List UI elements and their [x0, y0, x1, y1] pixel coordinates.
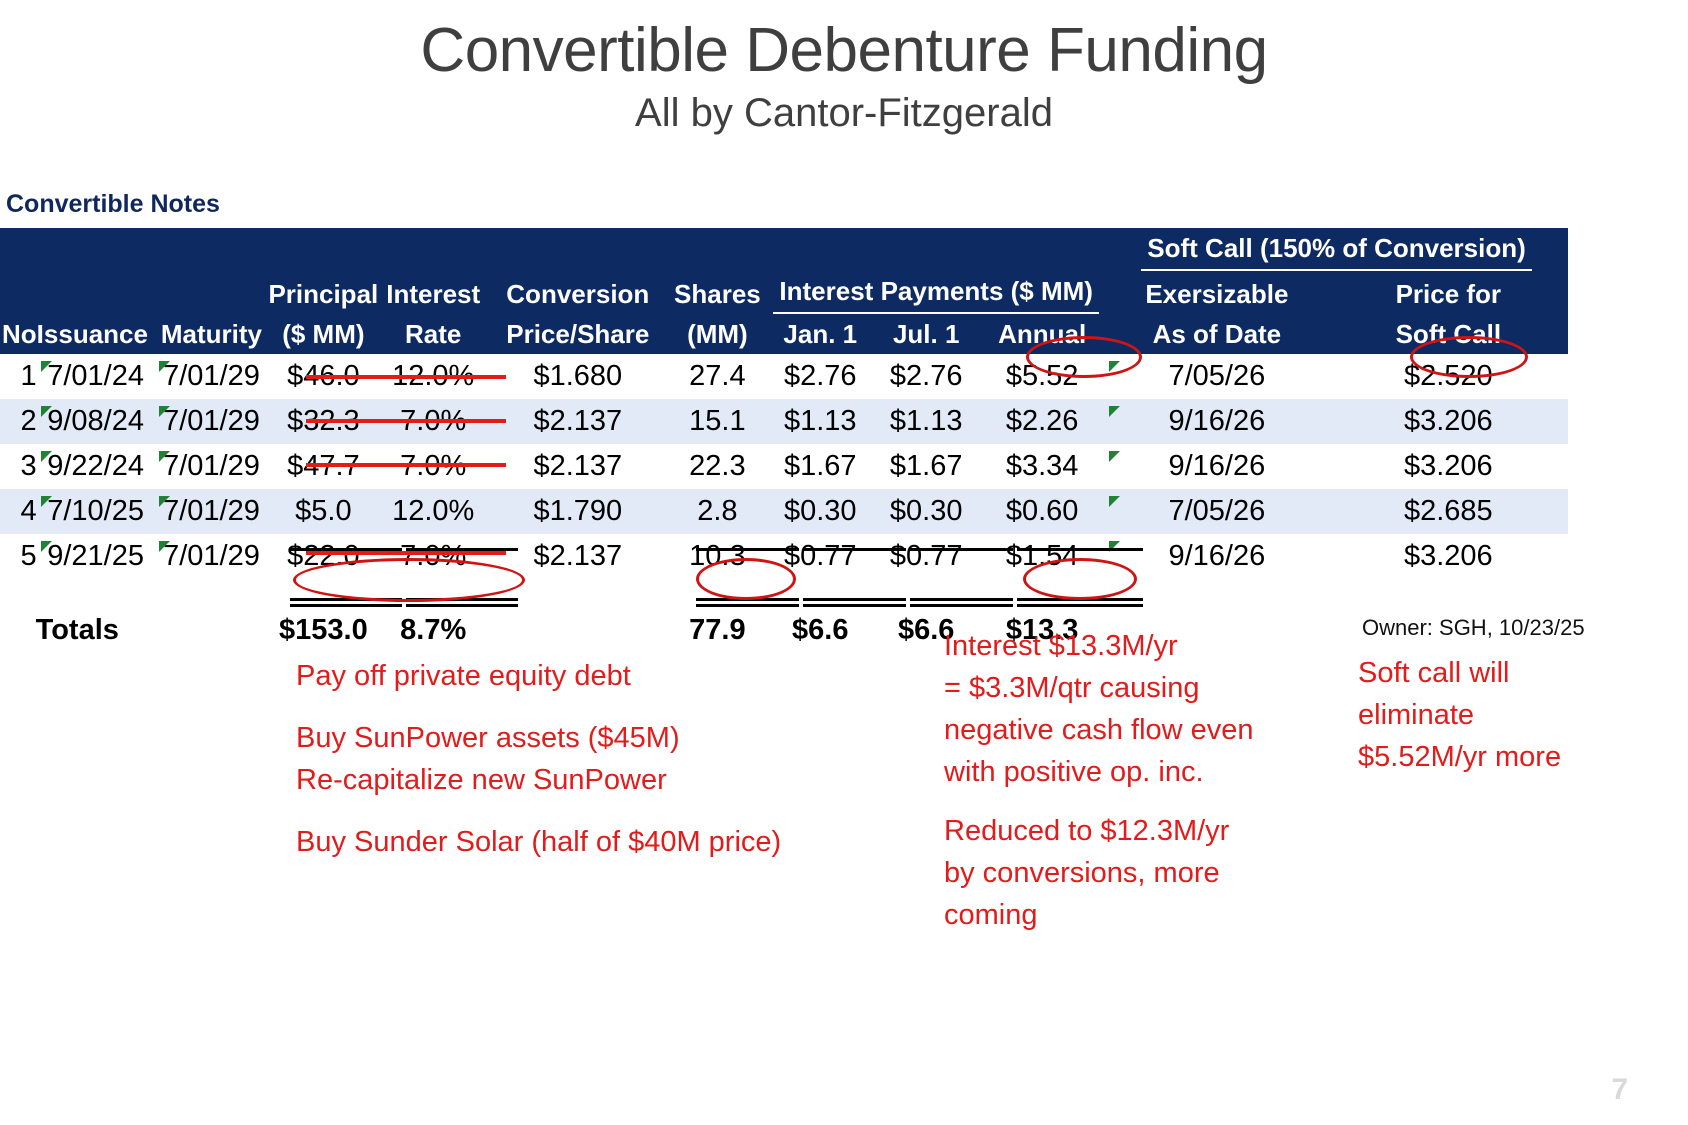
header-principal-unit: ($ MM) — [268, 314, 378, 354]
header-as-of-date: As of Date — [1105, 314, 1329, 354]
group-header-spacer — [0, 228, 1105, 271]
totals-label: Totals — [0, 605, 155, 655]
cell-jan: $2.76 — [767, 354, 873, 399]
cell-no: 1 — [0, 354, 37, 399]
cell-conversion-price: $1.680 — [488, 354, 667, 399]
table-row[interactable]: 3 9/22/24 7/01/29 $47.7 7.0% $2.137 22.3… — [0, 444, 1568, 489]
cell-as-of-date-value: 9/16/26 — [1168, 540, 1265, 572]
cell-jul: $1.67 — [873, 444, 979, 489]
note-line: = $3.3M/qtr causing — [944, 667, 1274, 709]
note-line: Reduced to $12.3M/yr — [944, 810, 1274, 852]
cell-shares: 22.3 — [668, 444, 768, 489]
cell-as-of-date: 7/05/26 — [1105, 489, 1329, 534]
header-shares-unit: (MM) — [668, 314, 768, 354]
cell-shares: 27.4 — [668, 354, 768, 399]
note-line: negative cash flow even — [944, 709, 1274, 751]
totals-rule-jan — [803, 598, 906, 601]
cell-maturity-value: 7/01/29 — [163, 495, 260, 527]
note-block-left: Pay off private equity debt Buy SunPower… — [296, 655, 856, 863]
cell-annual: $0.60 — [979, 489, 1105, 534]
title-block: Convertible Debenture Funding All by Can… — [0, 18, 1688, 137]
cell-issuance: 9/22/24 — [37, 444, 155, 489]
note-spacer — [296, 697, 856, 717]
cell-as-of-date: 9/16/26 — [1105, 444, 1329, 489]
comment-flag-icon — [1109, 451, 1120, 462]
header-blank-maturity — [155, 271, 269, 314]
red-underline-accent — [306, 375, 506, 379]
table-row[interactable]: 1 7/01/24 7/01/29 $46.0 12.0% $1.680 27.… — [0, 354, 1568, 399]
note-line: Re-capitalize new SunPower — [296, 759, 856, 801]
comment-flag-icon — [41, 541, 52, 552]
cell-issuance: 7/01/24 — [37, 354, 155, 399]
cell-jul: $1.13 — [873, 399, 979, 444]
note-line: eliminate — [1358, 694, 1688, 736]
group-header-soft-call-label: Soft Call (150% of Conversion) — [1141, 228, 1532, 271]
cell-jan: $1.13 — [767, 399, 873, 444]
highlight-ellipse-totals-annual — [1023, 558, 1137, 600]
note-line: Pay off private equity debt — [296, 655, 856, 697]
comment-flag-icon — [159, 361, 170, 372]
cell-no: 3 — [0, 444, 37, 489]
page-number: 7 — [1611, 1073, 1628, 1107]
group-header-soft-call: Soft Call (150% of Conversion) — [1105, 228, 1568, 271]
totals-shares: 77.9 — [668, 605, 768, 655]
cell-issuance-value: 9/08/24 — [47, 405, 144, 437]
cell-rate: 12.0% — [378, 489, 488, 534]
cell-issuance: 9/21/25 — [37, 534, 155, 579]
cell-jan: $0.30 — [767, 489, 873, 534]
comment-flag-icon — [41, 496, 52, 507]
red-underline-accent — [306, 419, 506, 423]
comment-flag-icon — [159, 541, 170, 552]
cell-maturity-value: 7/01/29 — [163, 540, 260, 572]
group-header-interest-payments-label: Interest Payments ($ MM) — [773, 271, 1099, 314]
note-line: Interest $13.3M/yr — [944, 625, 1274, 667]
subtotal-rule-jan — [803, 548, 906, 551]
cell-as-of-date: 9/16/26 — [1105, 399, 1329, 444]
cell-no: 5 — [0, 534, 37, 579]
cell-as-of-date-value: 9/16/26 — [1168, 405, 1265, 437]
owner-line: Owner: SGH, 10/23/25 — [1362, 614, 1682, 643]
note-block-middle-reduced: Reduced to $12.3M/yr by conversions, mor… — [944, 810, 1274, 936]
cell-soft-call-price: $2.685 — [1329, 489, 1568, 534]
note-line: coming — [944, 894, 1274, 936]
cell-maturity: 7/01/29 — [155, 354, 269, 399]
cell-maturity: 7/01/29 — [155, 489, 269, 534]
page-subtitle: All by Cantor-Fitzgerald — [0, 89, 1688, 137]
table-totals-row: Totals $153.0 8.7% 77.9 $6.6 $6.6 $13.3 — [0, 605, 1568, 655]
section-label: Convertible Notes — [6, 190, 220, 219]
cell-no: 2 — [0, 399, 37, 444]
cell-as-of-date-value: 9/16/26 — [1168, 450, 1265, 482]
note-spacer — [296, 801, 856, 821]
cell-issuance-value: 9/22/24 — [47, 450, 144, 482]
cell-issuance-value: 7/01/24 — [47, 360, 144, 392]
cell-shares: 2.8 — [668, 489, 768, 534]
highlight-ellipse-annual-row1 — [1026, 336, 1142, 378]
cell-jan: $1.67 — [767, 444, 873, 489]
header-no: No — [0, 314, 37, 354]
note-block-middle-interest: Interest $13.3M/yr = $3.3M/qtr causing n… — [944, 625, 1274, 793]
note-line: Soft call will — [1358, 652, 1688, 694]
comment-flag-icon — [1109, 496, 1120, 507]
red-underline-accent — [306, 551, 506, 555]
totals-principal: $153.0 — [268, 605, 378, 655]
red-underline-accent — [306, 463, 506, 467]
cell-as-of-date-value: 7/05/26 — [1168, 360, 1265, 392]
highlight-ellipse-totals-principal-rate — [293, 558, 525, 602]
cell-maturity: 7/01/29 — [155, 399, 269, 444]
subtotal-rule-principal — [290, 548, 402, 551]
cell-conversion-price: $1.790 — [488, 489, 667, 534]
cell-issuance-value: 9/21/25 — [47, 540, 144, 572]
cell-annual: $3.34 — [979, 444, 1105, 489]
comment-flag-icon — [159, 496, 170, 507]
cell-conversion-price: $2.137 — [488, 399, 667, 444]
header-blank-no — [0, 271, 37, 314]
note-line: Buy SunPower assets ($45M) — [296, 717, 856, 759]
totals-blank-conversion — [488, 605, 667, 655]
comment-flag-icon — [1109, 406, 1120, 417]
note-line: by conversions, more — [944, 852, 1274, 894]
table-row[interactable]: 2 9/08/24 7/01/29 $32.3 7.0% $2.137 15.1… — [0, 399, 1568, 444]
note-block-right: Soft call will eliminate $5.52M/yr more — [1358, 652, 1688, 778]
totals-rule-jul — [910, 598, 1013, 601]
header-exersizable: Exersizable — [1105, 271, 1329, 314]
header-jul: Jul. 1 — [873, 314, 979, 354]
header-maturity: Maturity — [155, 314, 269, 354]
cell-jul: $0.30 — [873, 489, 979, 534]
cell-principal: $5.0 — [268, 489, 378, 534]
note-line: Buy Sunder Solar (half of $40M price) — [296, 821, 856, 863]
header-issuance: Issuance — [37, 314, 155, 354]
note-line: with positive op. inc. — [944, 751, 1274, 793]
header-interest: Interest — [378, 271, 488, 314]
comment-flag-icon — [41, 406, 52, 417]
group-header-interest-payments: Interest Payments ($ MM) — [767, 271, 1105, 314]
table-header-row-top: Principal Interest Conversion Shares Int… — [0, 271, 1568, 314]
header-jan: Jan. 1 — [767, 314, 873, 354]
page-title: Convertible Debenture Funding — [0, 18, 1688, 83]
cell-soft-call-price: $3.206 — [1329, 399, 1568, 444]
comment-flag-icon — [159, 451, 170, 462]
totals-blank-maturity — [155, 605, 269, 655]
header-rate: Rate — [378, 314, 488, 354]
header-blank-issuance — [37, 271, 155, 314]
cell-soft-call-price: $3.206 — [1329, 534, 1568, 579]
comment-flag-icon — [41, 361, 52, 372]
cell-soft-call-price: $3.206 — [1329, 444, 1568, 489]
cell-shares: 15.1 — [668, 399, 768, 444]
subtotal-rule-shares — [696, 548, 799, 551]
header-price-for: Price for — [1329, 271, 1568, 314]
highlight-ellipse-softcall-row1 — [1410, 336, 1528, 378]
cell-jul: $2.76 — [873, 354, 979, 399]
comment-flag-icon — [41, 451, 52, 462]
cell-jul: $0.77 — [873, 534, 979, 579]
subtotal-rule-jul — [910, 548, 1013, 551]
table-group-header-row: Soft Call (150% of Conversion) — [0, 228, 1568, 271]
header-shares: Shares — [668, 271, 768, 314]
cell-issuance: 9/08/24 — [37, 399, 155, 444]
cell-no: 4 — [0, 489, 37, 534]
comment-flag-icon — [159, 406, 170, 417]
cell-maturity-value: 7/01/29 — [163, 450, 260, 482]
cell-conversion-price: $2.137 — [488, 444, 667, 489]
cell-annual: $2.26 — [979, 399, 1105, 444]
cell-as-of-date: 9/16/26 — [1105, 534, 1329, 579]
cell-maturity: 7/01/29 — [155, 444, 269, 489]
table-row[interactable]: 4 7/10/25 7/01/29 $5.0 12.0% $1.790 2.8 … — [0, 489, 1568, 534]
cell-as-of-date-value: 7/05/26 — [1168, 495, 1265, 527]
note-line: $5.52M/yr more — [1358, 736, 1688, 778]
header-price-share: Price/Share — [488, 314, 667, 354]
subtotal-rule-annual — [1017, 548, 1143, 551]
cell-issuance-value: 7/10/25 — [47, 495, 144, 527]
cell-maturity: 7/01/29 — [155, 534, 269, 579]
header-conversion: Conversion — [488, 271, 667, 314]
table-header-row-bottom: No Issuance Maturity ($ MM) Rate Price/S… — [0, 314, 1568, 354]
totals-jan: $6.6 — [767, 605, 873, 655]
highlight-ellipse-totals-shares — [696, 558, 796, 600]
totals-rate: 8.7% — [378, 605, 488, 655]
header-principal: Principal — [268, 271, 378, 314]
cell-maturity-value: 7/01/29 — [163, 360, 260, 392]
subtotal-rule-rate — [406, 548, 518, 551]
cell-issuance: 7/10/25 — [37, 489, 155, 534]
cell-maturity-value: 7/01/29 — [163, 405, 260, 437]
